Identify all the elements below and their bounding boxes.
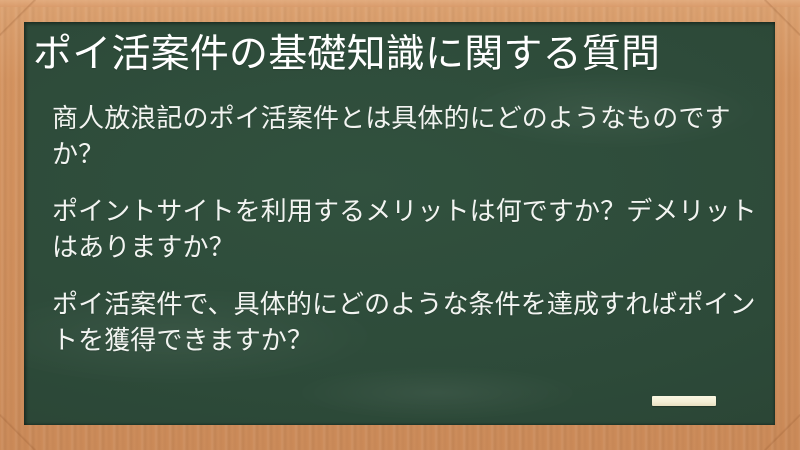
chalk-stick-icon: [652, 396, 716, 406]
blackboard-wooden-frame: ポイ活案件の基礎知識に関する質問 商人放浪記のポイ活案件とは具体的にどのようなも…: [0, 0, 800, 450]
list-item: ポイントサイトを利用するメリットは何ですか？デメリットはありますか？: [52, 193, 757, 266]
list-item: ポイ活案件で、具体的にどのような条件を達成すればポイントを獲得できますか？: [52, 286, 757, 359]
chalkboard-surface: ポイ活案件の基礎知識に関する質問 商人放浪記のポイ活案件とは具体的にどのようなも…: [24, 22, 775, 425]
question-list: 商人放浪記のポイ活案件とは具体的にどのようなものですか？ ポイントサイトを利用す…: [52, 100, 757, 358]
frame-top-highlight: [0, 0, 800, 7]
list-item: 商人放浪記のポイ活案件とは具体的にどのようなものですか？: [52, 100, 757, 173]
chalkboard-content: ポイ活案件の基礎知識に関する質問 商人放浪記のポイ活案件とは具体的にどのようなも…: [24, 22, 775, 425]
page-title: ポイ活案件の基礎知識に関する質問: [33, 32, 660, 78]
